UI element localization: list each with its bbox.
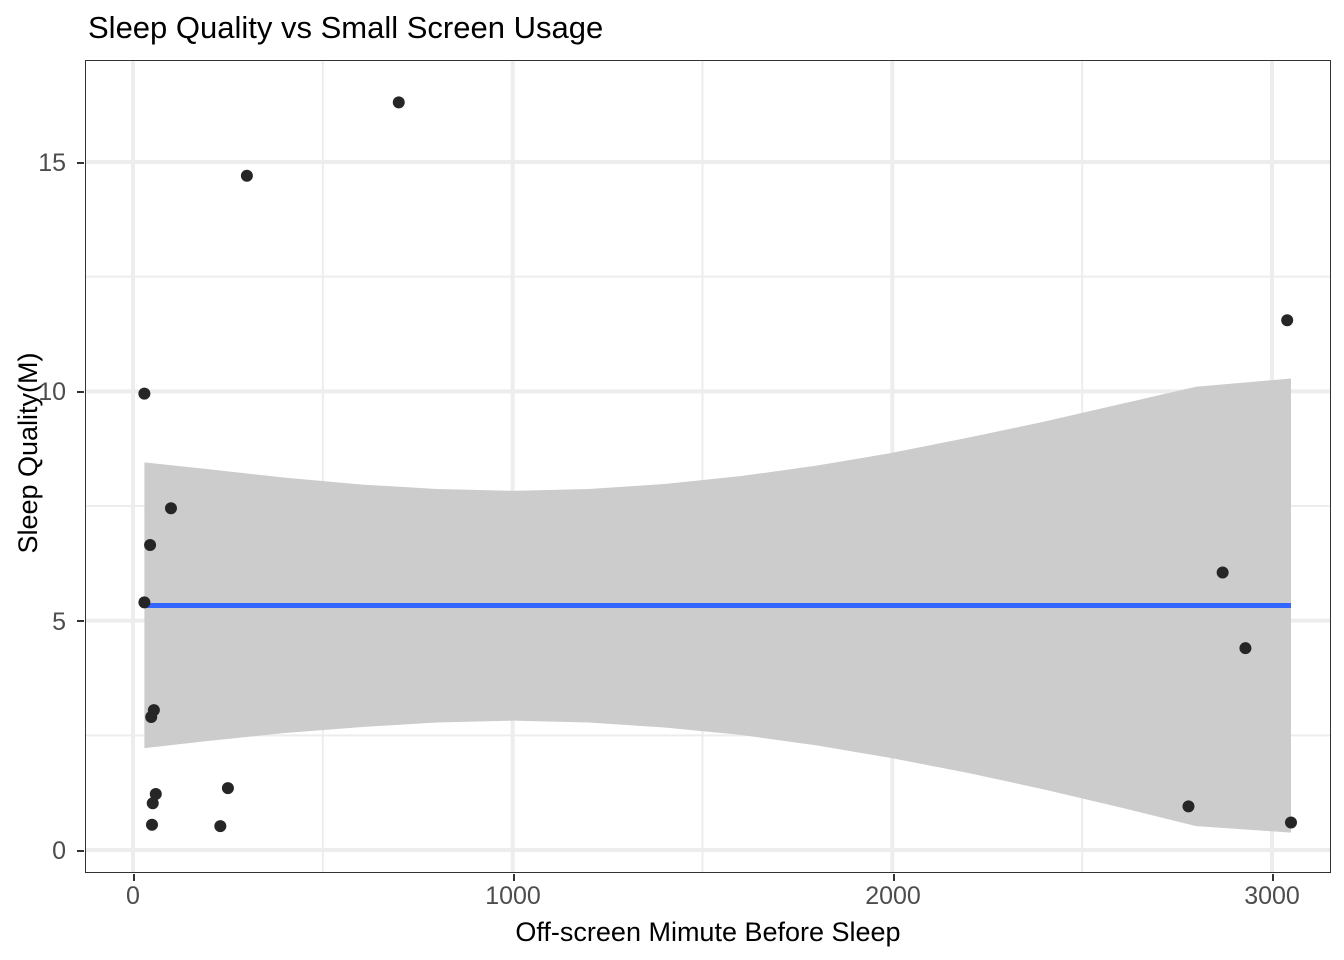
data-point bbox=[1281, 314, 1293, 326]
data-point bbox=[1239, 642, 1251, 654]
data-point bbox=[165, 502, 177, 514]
data-point bbox=[393, 96, 405, 108]
data-point bbox=[1217, 567, 1229, 579]
x-tick-label-2000: 2000 bbox=[833, 884, 953, 909]
data-point bbox=[138, 596, 150, 608]
y-tick-label-0: 0 bbox=[16, 839, 66, 864]
y-tick-label-10: 10 bbox=[16, 380, 66, 405]
data-point bbox=[146, 819, 158, 831]
y-tick-mark bbox=[77, 391, 84, 393]
data-point bbox=[222, 782, 234, 794]
y-tick-mark bbox=[77, 850, 84, 852]
scatter-plot-canvas bbox=[86, 61, 1330, 872]
x-tick-label-0: 0 bbox=[73, 884, 193, 909]
x-tick-mark bbox=[1272, 874, 1274, 881]
data-point bbox=[1285, 816, 1297, 828]
plot-panel bbox=[85, 60, 1331, 873]
data-point bbox=[214, 820, 226, 832]
data-point bbox=[138, 388, 150, 400]
y-tick-label-5: 5 bbox=[16, 610, 66, 635]
y-tick-label-15: 15 bbox=[16, 151, 66, 176]
x-tick-mark bbox=[133, 874, 135, 881]
data-point bbox=[1182, 800, 1194, 812]
data-point bbox=[145, 711, 157, 723]
data-point bbox=[241, 170, 253, 182]
y-tick-mark bbox=[77, 620, 84, 622]
data-point bbox=[147, 797, 159, 809]
x-tick-label-3000: 3000 bbox=[1212, 884, 1332, 909]
chart-figure: Sleep Quality vs Small Screen Usage Slee… bbox=[0, 0, 1344, 960]
x-tick-label-1000: 1000 bbox=[453, 884, 573, 909]
x-tick-mark bbox=[513, 874, 515, 881]
x-axis-label: Off-screen Mimute Before Sleep bbox=[85, 916, 1331, 948]
y-axis-label: Sleep Quality(M) bbox=[12, 303, 44, 603]
data-point bbox=[144, 539, 156, 551]
y-tick-mark bbox=[77, 162, 84, 164]
x-tick-mark bbox=[893, 874, 895, 881]
page-title: Sleep Quality vs Small Screen Usage bbox=[88, 9, 603, 47]
